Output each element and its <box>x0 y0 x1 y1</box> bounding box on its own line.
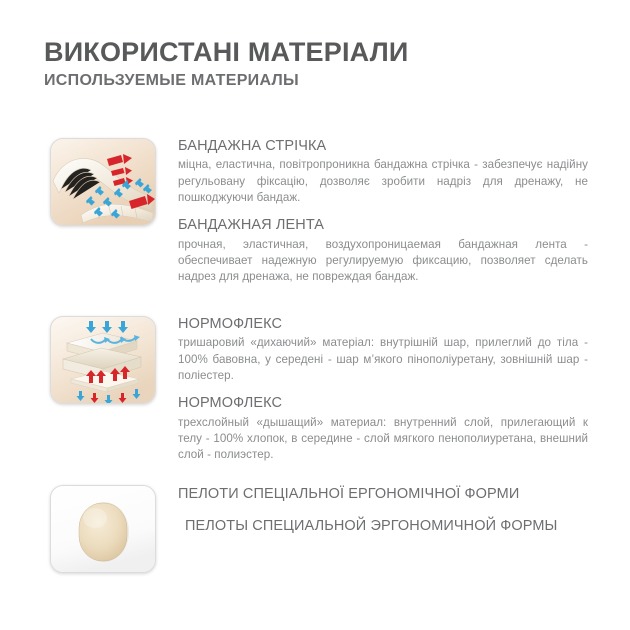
material-heading: НОРМОФЛЕКС <box>178 395 588 412</box>
oval-pad-icon <box>51 486 155 572</box>
normoflex-text-column: НОРМОФЛЕКС тришаровий «дихаючий» матеріа… <box>178 316 588 464</box>
pelot-text-column: ПЕЛОТИ СПЕЦІАЛЬНОЇ ЕРГОНОМІЧНОЇ ФОРМИ ПЕ… <box>178 485 588 536</box>
text-block-ukrainian: НОРМОФЛЕКС тришаровий «дихаючий» матеріа… <box>178 316 588 384</box>
bandage-strap-icon <box>51 139 155 225</box>
page-title-ukrainian: ВИКОРИСТАНІ МАТЕРІАЛИ <box>44 38 604 66</box>
text-block-ukrainian: ПЕЛОТИ СПЕЦІАЛЬНОЇ ЕРГОНОМІЧНОЇ ФОРМИ <box>178 485 588 505</box>
material-description: трехслойный «дышащий» материал: внутренн… <box>178 415 588 464</box>
page-title-russian: ИСПОЛЬЗУЕМЫЕ МАТЕРИАЛЫ <box>44 73 604 90</box>
ergonomic-pelot-illustration <box>51 486 155 572</box>
text-block-ukrainian: БАНДАЖНА СТРІЧКА міцна, еластична, повіт… <box>178 138 588 206</box>
material-description: прочная, эластичная, воздухопроницаемая … <box>178 237 588 286</box>
material-heading: БАНДАЖНА СТРІЧКА <box>178 138 588 155</box>
normoflex-layers-thumbnail <box>50 316 156 404</box>
material-description: міцна, еластична, повітропроникна бандаж… <box>178 157 588 206</box>
text-block-russian: БАНДАЖНАЯ ЛЕНТА прочная, эластичная, воз… <box>178 217 588 285</box>
text-block-russian: ПЕЛОТЫ СПЕЦИАЛЬНОЙ ЭРГОНОМИЧНОЙ ФОРМЫ <box>185 517 588 537</box>
layered-material-icon <box>51 317 155 403</box>
material-heading: ПЕЛОТЫ СПЕЦИАЛЬНОЙ ЭРГОНОМИЧНОЙ ФОРМЫ <box>185 517 588 537</box>
text-block-russian: НОРМОФЛЕКС трехслойный «дышащий» материа… <box>178 395 588 463</box>
material-heading: БАНДАЖНАЯ ЛЕНТА <box>178 217 588 234</box>
bandage-strap-thumbnail <box>50 138 156 226</box>
bandage-strap-illustration <box>51 139 155 225</box>
material-description: тришаровий «дихаючий» матеріал: внутрішн… <box>178 335 588 384</box>
material-heading: НОРМОФЛЕКС <box>178 316 588 333</box>
material-heading: ПЕЛОТИ СПЕЦІАЛЬНОЇ ЕРГОНОМІЧНОЇ ФОРМИ <box>178 485 588 505</box>
page-header: ВИКОРИСТАНІ МАТЕРІАЛИ ИСПОЛЬЗУЕМЫЕ МАТЕР… <box>44 38 604 90</box>
normoflex-layers-illustration <box>51 317 155 403</box>
bandage-strap-text-column: БАНДАЖНА СТРІЧКА міцна, еластична, повіт… <box>178 138 588 286</box>
ergonomic-pelot-thumbnail <box>50 485 156 573</box>
